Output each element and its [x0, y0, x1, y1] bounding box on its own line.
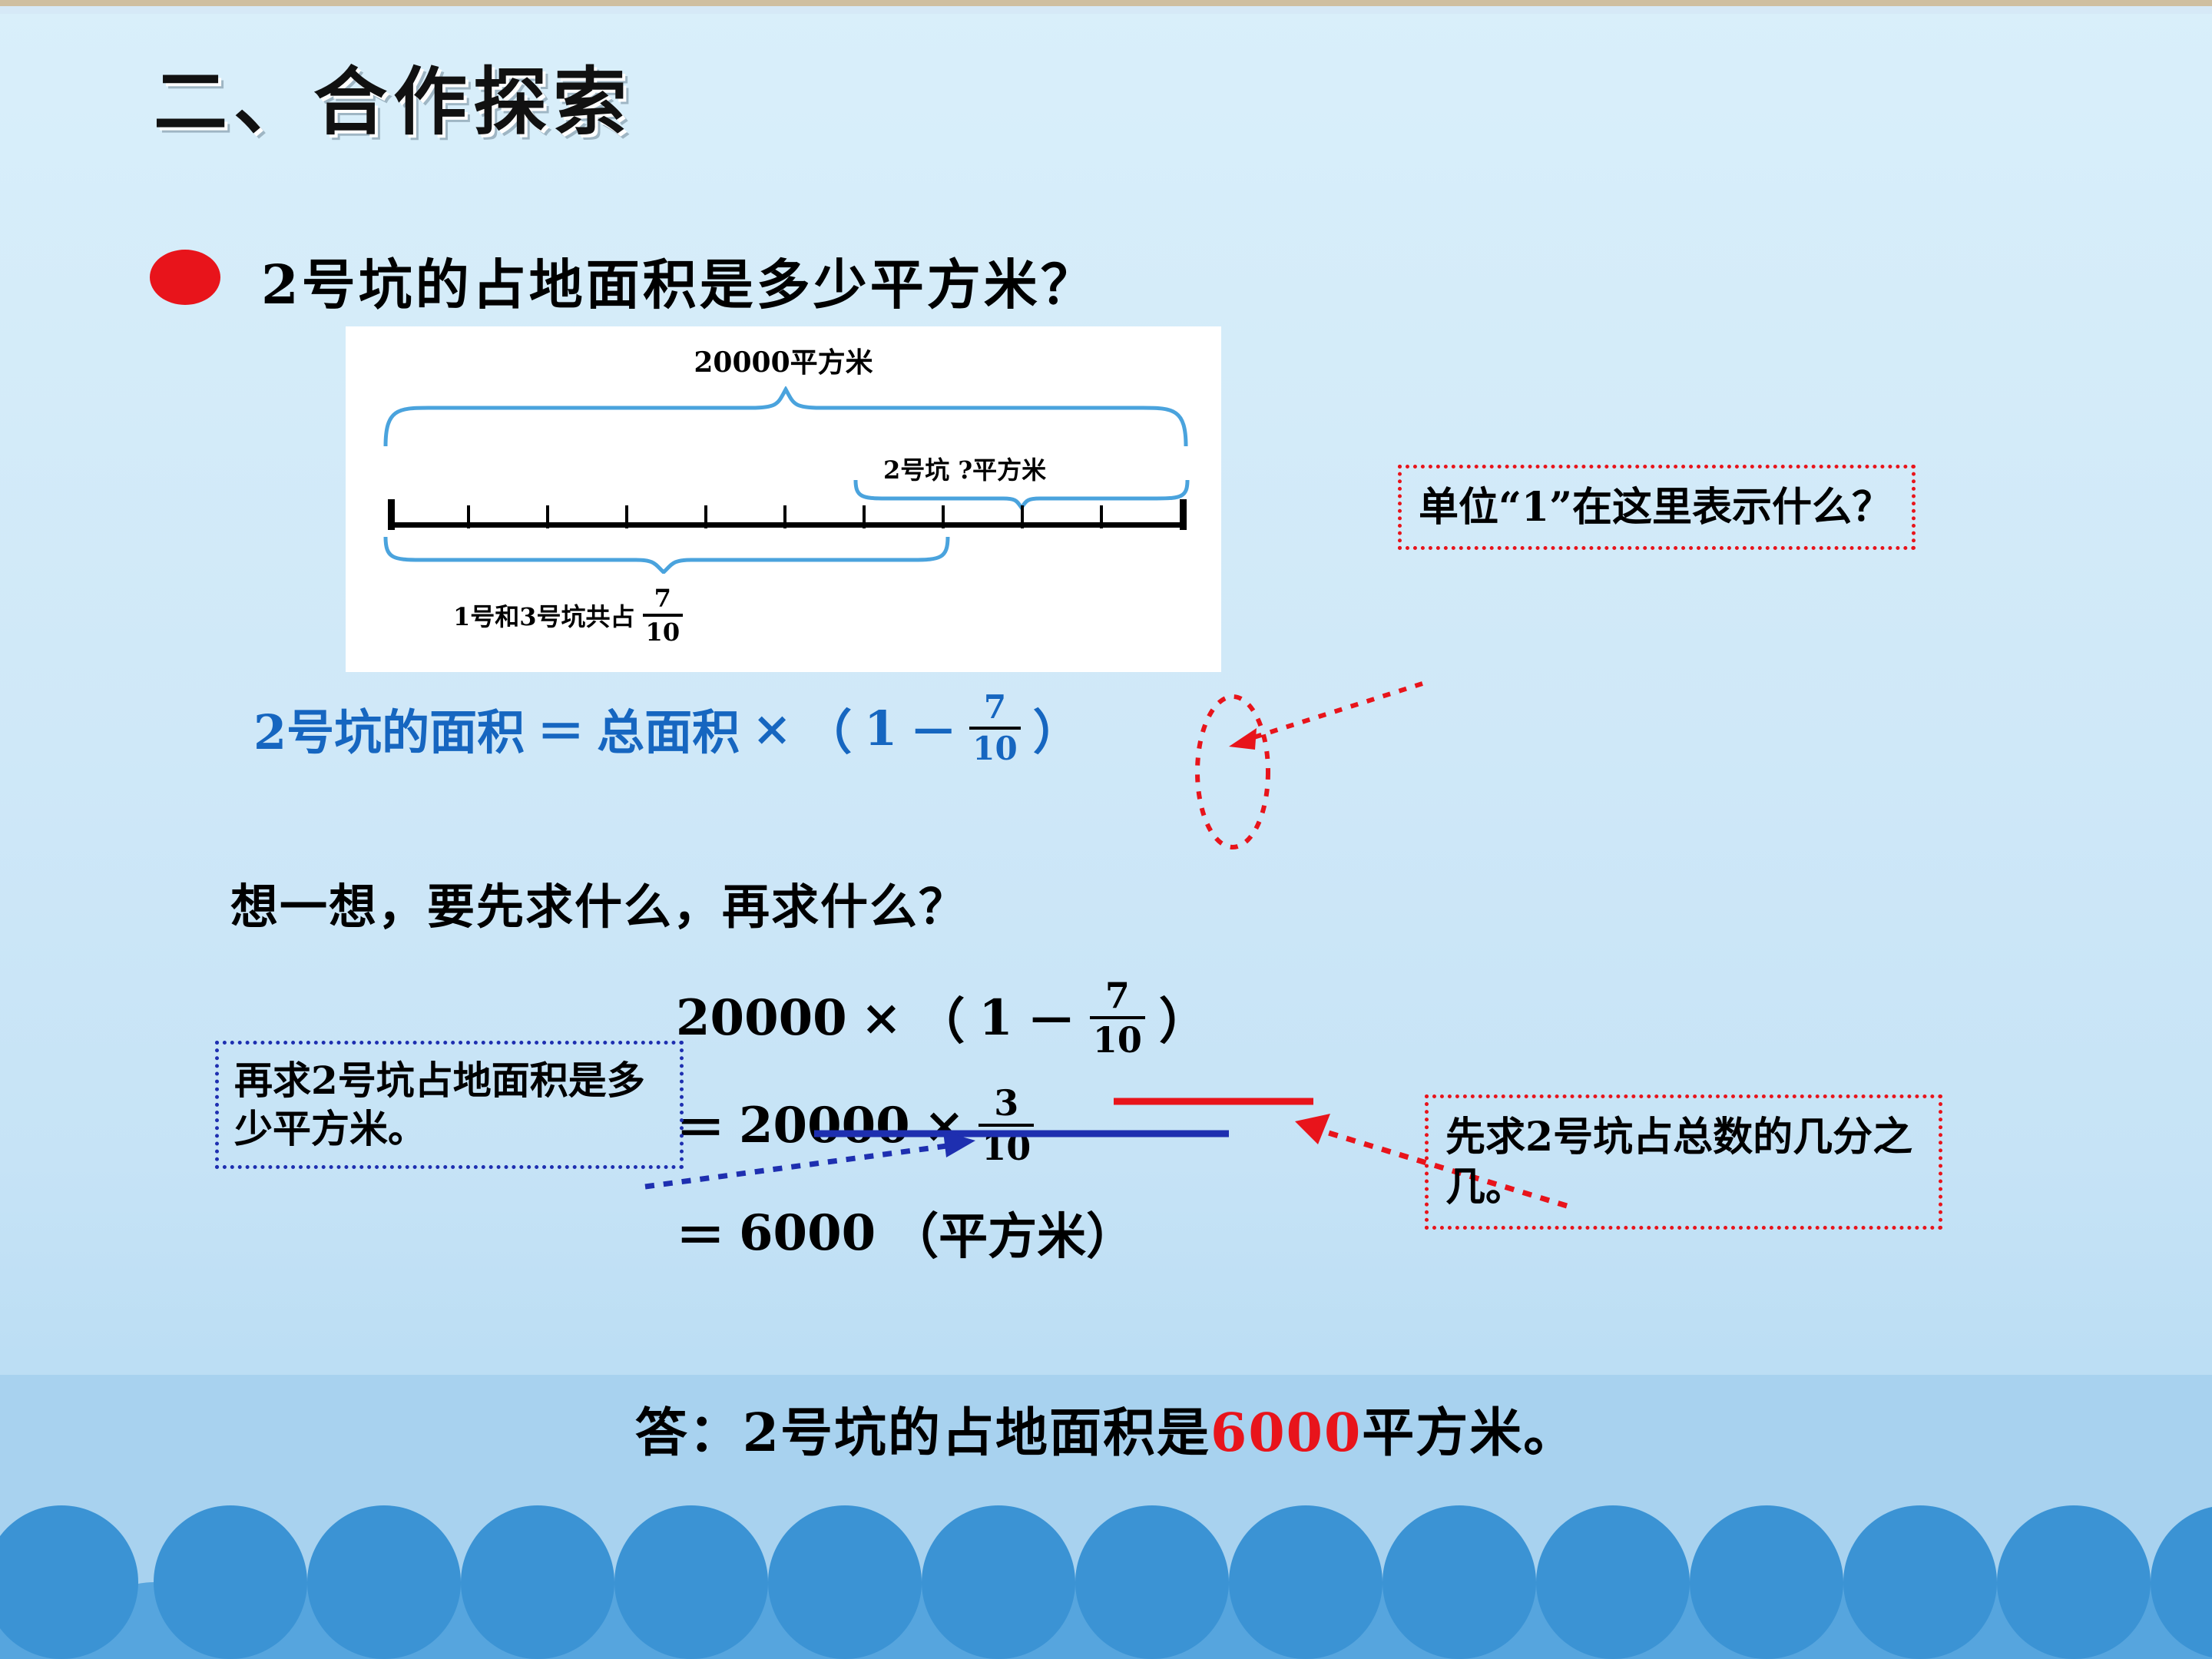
callout-unit-one: 单位“1”在这里表示什么？: [1398, 465, 1916, 550]
calc1-fraction-denominator: 10: [1090, 1022, 1145, 1058]
calc3-value: 6000: [739, 1204, 876, 1262]
number-line: [388, 499, 1187, 531]
calc1-fraction-numerator: 7: [1102, 978, 1133, 1013]
formula-paren-open: （: [804, 694, 852, 763]
formula-fraction: 7 10: [969, 691, 1020, 765]
calc1-paren-open: （: [916, 982, 965, 1053]
diagram-pit2-label: 2号坑 ?平方米: [883, 451, 1046, 486]
question-text: 2号坑的占地面积是多少平方米？: [261, 242, 1098, 320]
slide: 二、合作探索 2号坑的占地面积是多少平方米？ 20000平方米 2号坑 ?平方米: [0, 0, 2212, 1659]
formula-paren-close: ）: [1033, 694, 1081, 763]
bar-diagram: 20000平方米 2号坑 ?平方米: [346, 326, 1221, 672]
unit-one-highlight-oval-icon: [1187, 691, 1279, 853]
calc1-total: 20000: [676, 989, 847, 1047]
formula-minus: －: [909, 694, 957, 763]
formula-one: 1: [864, 700, 897, 757]
pits13-brace-icon: [382, 535, 951, 574]
formula-line: 2号坑的面积 ＝ 总面积 × （ 1 － 7 10 ）: [253, 691, 1081, 765]
diagram-pits13-label: 1号和3号坑共占 7 10: [453, 586, 683, 644]
calc1-paren-close: ）: [1159, 982, 1208, 1053]
second-step-arrow-icon: [637, 1102, 991, 1202]
answer-prefix: 答：2号坑的占地面积是: [635, 1402, 1210, 1464]
formula-lhs: 2号坑的面积: [253, 694, 525, 763]
diagram-pits13-text: 1号和3号坑共占: [453, 598, 635, 633]
formula-total: 总面积: [597, 694, 740, 763]
formula-equals: ＝: [537, 694, 584, 763]
callout-second-step: 再求2号坑占地面积是多少平方米。: [215, 1041, 684, 1169]
answer-value: 6000: [1210, 1402, 1362, 1464]
diagram-total-label: 20000平方米: [346, 340, 1221, 380]
diagram-fraction-numerator: 7: [651, 586, 674, 611]
formula-times: ×: [752, 700, 792, 757]
calc-line-1: 20000 × （ 1 － 7 10 ）: [676, 964, 1208, 1071]
answer-suffix: 平方米。: [1362, 1402, 1577, 1464]
page-title: 二、合作探索: [154, 42, 633, 149]
calc3-unit: （平方米）: [889, 1197, 1135, 1268]
scallop-row-front: [0, 1505, 2212, 1659]
calc1-one: 1: [979, 989, 1013, 1047]
calc3-equals: ＝: [676, 1197, 725, 1268]
diagram-fraction-denominator: 10: [643, 620, 684, 644]
top-accent-strip-inner: [0, 6, 2212, 14]
calc1-fraction: 7 10: [1090, 978, 1145, 1058]
total-brace-icon: [382, 386, 1189, 448]
formula-fraction-denominator: 10: [969, 733, 1020, 765]
calc1-times: ×: [861, 989, 902, 1047]
formula-fraction-numerator: 7: [981, 691, 1009, 724]
bullet-dot-icon: [150, 250, 220, 305]
answer-line: 答：2号坑的占地面积是6000平方米。: [0, 1390, 2212, 1466]
diagram-fraction: 7 10: [643, 586, 684, 644]
calc1-minus: －: [1027, 982, 1076, 1053]
scallop-decoration: [0, 1505, 2212, 1659]
prompt-text: 想一想，要先求什么，再求什么？: [230, 868, 968, 937]
callout-first-step: 先求2号坑占总数的几分之几。: [1425, 1094, 1942, 1230]
